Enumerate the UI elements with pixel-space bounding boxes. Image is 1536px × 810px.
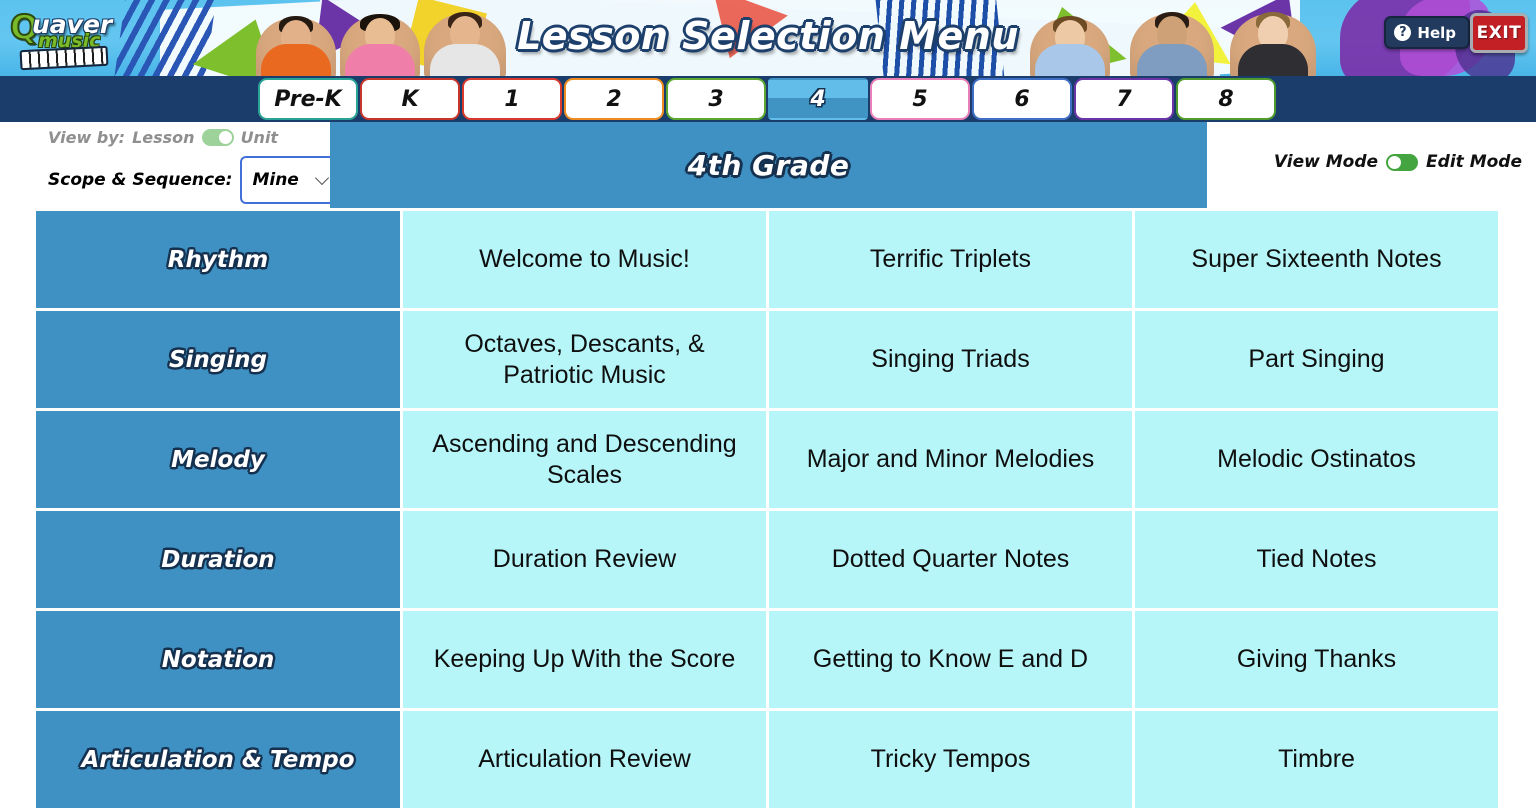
banner-child-photo <box>1030 18 1110 76</box>
category-cell[interactable]: Melody <box>36 411 400 508</box>
chevron-down-icon <box>315 171 329 185</box>
lesson-selection-page: Q uaver music Lesson Selection Menu ? He… <box>0 0 1536 810</box>
lesson-row: NotationKeeping Up With the ScoreGetting… <box>36 611 1498 708</box>
help-button-label: Help <box>1417 24 1456 42</box>
lesson-row: DurationDuration ReviewDotted Quarter No… <box>36 511 1498 608</box>
lesson-cell[interactable]: Timbre <box>1135 711 1498 808</box>
grade-tab-list: Pre-KK12345678 <box>258 78 1276 120</box>
grade-tab-4[interactable]: 4 <box>768 78 868 120</box>
grade-tab-7[interactable]: 7 <box>1074 78 1174 120</box>
lesson-cell[interactable]: Super Sixteenth Notes <box>1135 211 1498 308</box>
grade-tab-k[interactable]: K <box>360 78 460 120</box>
view-by-lesson-label[interactable]: Lesson <box>132 128 194 147</box>
view-by-label: View by: <box>48 128 125 147</box>
grade-tab-5[interactable]: 5 <box>870 78 970 120</box>
scope-sequence-label: Scope & Sequence: <box>48 170 232 190</box>
scope-sequence-select[interactable]: Mine <box>240 156 340 204</box>
lesson-cell[interactable]: Giving Thanks <box>1135 611 1498 708</box>
view-mode-control: View Mode Edit Mode <box>1274 152 1522 172</box>
banner-child-photo <box>424 14 506 76</box>
edit-mode-label[interactable]: Edit Mode <box>1426 152 1522 172</box>
lesson-cell[interactable]: Tied Notes <box>1135 511 1498 608</box>
grade-nav-bar: Pre-KK12345678 <box>0 76 1536 122</box>
grade-title-bar: 4th Grade <box>330 122 1207 208</box>
view-by-control: View by: Lesson Unit <box>48 128 278 147</box>
scope-sequence-value: Mine <box>252 170 298 190</box>
grade-tab-pre-k[interactable]: Pre-K <box>258 78 358 120</box>
lesson-cell[interactable]: Terrific Triplets <box>769 211 1132 308</box>
logo-piano-keys-icon <box>20 46 109 71</box>
lesson-cell[interactable]: Dotted Quarter Notes <box>769 511 1132 608</box>
lesson-row: RhythmWelcome to Music!Terrific Triplets… <box>36 211 1498 308</box>
banner-child-photo <box>1130 14 1214 76</box>
grade-tab-1[interactable]: 1 <box>462 78 562 120</box>
lesson-cell[interactable]: Major and Minor Melodies <box>769 411 1132 508</box>
lesson-cell[interactable]: Ascending and Descending Scales <box>403 411 766 508</box>
banner-child-photo <box>340 16 420 76</box>
grade-tab-6[interactable]: 6 <box>972 78 1072 120</box>
exit-button[interactable]: EXIT <box>1470 13 1528 53</box>
lesson-cell[interactable]: Part Singing <box>1135 311 1498 408</box>
lesson-cell[interactable]: Octaves, Descants, & Patriotic Music <box>403 311 766 408</box>
lesson-cell[interactable]: Melodic Ostinatos <box>1135 411 1498 508</box>
lesson-row: MelodyAscending and Descending ScalesMaj… <box>36 411 1498 508</box>
view-mode-label[interactable]: View Mode <box>1274 152 1378 172</box>
category-cell[interactable]: Articulation & Tempo <box>36 711 400 808</box>
scope-sequence-control: Scope & Sequence: Mine <box>48 156 340 204</box>
banner-child-photo <box>256 18 336 76</box>
category-cell[interactable]: Rhythm <box>36 211 400 308</box>
category-cell[interactable]: Notation <box>36 611 400 708</box>
category-cell[interactable]: Singing <box>36 311 400 408</box>
grade-tab-2[interactable]: 2 <box>564 78 664 120</box>
banner-artwork <box>0 0 1536 76</box>
lesson-cell[interactable]: Welcome to Music! <box>403 211 766 308</box>
grade-title: 4th Grade <box>688 149 850 182</box>
question-mark-icon: ? <box>1394 24 1411 41</box>
quaver-music-logo[interactable]: Q uaver music <box>8 6 112 68</box>
grade-tab-8[interactable]: 8 <box>1176 78 1276 120</box>
lesson-cell[interactable]: Singing Triads <box>769 311 1132 408</box>
lesson-cell[interactable]: Tricky Tempos <box>769 711 1132 808</box>
help-button[interactable]: ? Help <box>1384 16 1470 49</box>
app-banner: Q uaver music Lesson Selection Menu ? He… <box>0 0 1536 76</box>
view-mode-toggle[interactable] <box>1386 154 1418 171</box>
view-by-unit-label[interactable]: Unit <box>241 128 279 147</box>
lesson-cell[interactable]: Duration Review <box>403 511 766 608</box>
lesson-row: SingingOctaves, Descants, & Patriotic Mu… <box>36 311 1498 408</box>
lesson-row: Articulation & TempoArticulation ReviewT… <box>36 711 1498 808</box>
grade-tab-3[interactable]: 3 <box>666 78 766 120</box>
lesson-cell[interactable]: Articulation Review <box>403 711 766 808</box>
view-by-toggle[interactable] <box>202 129 234 146</box>
lesson-cell[interactable]: Getting to Know E and D <box>769 611 1132 708</box>
category-cell[interactable]: Duration <box>36 511 400 608</box>
lesson-grid: RhythmWelcome to Music!Terrific Triplets… <box>36 211 1498 808</box>
banner-child-photo <box>1230 14 1316 76</box>
lesson-cell[interactable]: Keeping Up With the Score <box>403 611 766 708</box>
